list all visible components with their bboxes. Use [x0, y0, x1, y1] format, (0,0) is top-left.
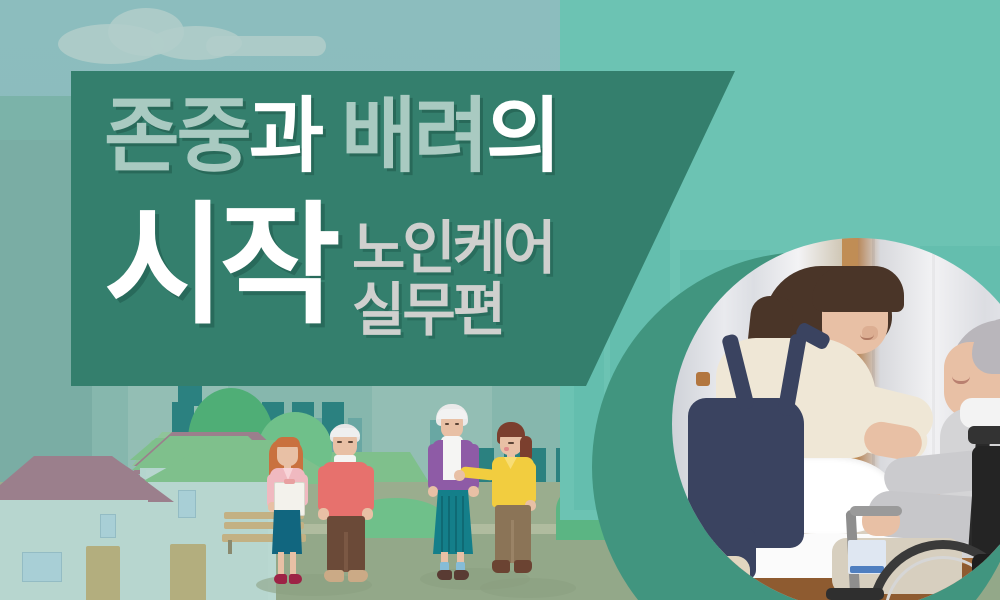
- figure-elderly-man: [316, 422, 378, 586]
- subtitle-line-1: 노인케어: [352, 218, 553, 280]
- title-line-1: 존중과 배려의: [104, 96, 558, 178]
- title-word-respect: 존중: [104, 91, 249, 182]
- subtitle-line-2: 실무편: [352, 280, 553, 342]
- title-block: 존중과 배려의 시작 노인케어 실무편: [0, 0, 760, 400]
- title-space: [321, 91, 341, 182]
- title-line-2: 시작: [104, 200, 335, 332]
- poster-canvas: 존중과 배려의 시작 노인케어 실무편: [0, 0, 1000, 600]
- title-word-consideration: 배려: [341, 91, 486, 182]
- title-particle-gwa: 과: [249, 91, 321, 182]
- figure-social-worker-with-clipboard: [258, 432, 316, 584]
- title-particle-ui: 의: [486, 91, 558, 182]
- figure-caregiver-yellow: [484, 420, 544, 588]
- figure-elderly-woman: [424, 404, 482, 582]
- subtitle-block: 노인케어 실무편: [352, 218, 553, 342]
